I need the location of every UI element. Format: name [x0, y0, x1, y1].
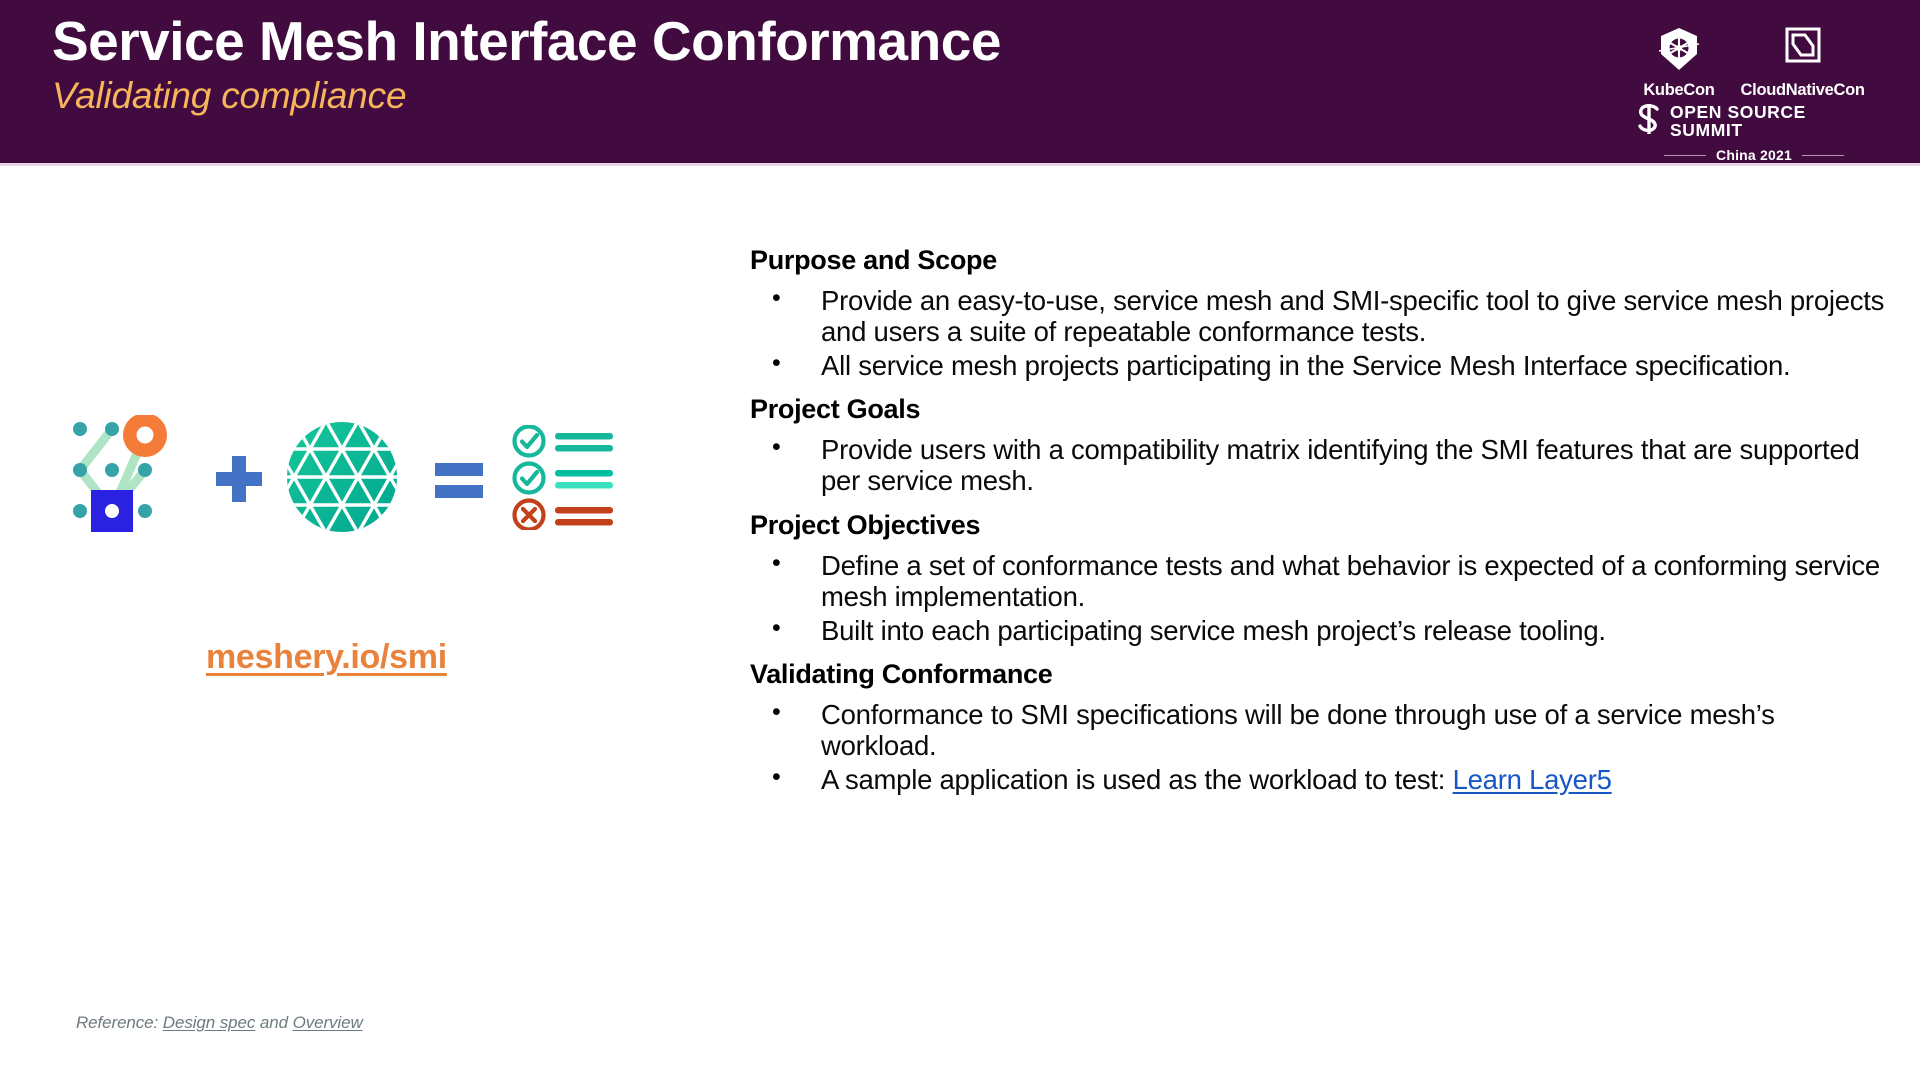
cloudnativecon-square-icon [1781, 26, 1825, 77]
conformance-results-checklist-icon [510, 425, 622, 535]
list-item: Define a set of conformance tests and wh… [750, 550, 1890, 613]
logo-rule-right [1802, 155, 1844, 156]
list-item: Provide an easy-to-use, service mesh and… [750, 285, 1890, 348]
overview-link[interactable]: Overview [293, 1013, 363, 1032]
content-column: Purpose and Scope Provide an easy-to-use… [750, 245, 1890, 797]
logo-row-primary: KubeCon CloudNativeCon [1634, 8, 1874, 98]
reference-label: Reference: [76, 1013, 158, 1032]
equals-symbol [431, 453, 487, 510]
header-divider [0, 163, 1920, 166]
logo-row-year: China 2021 [1634, 148, 1874, 162]
kubecon-label: KubeCon [1643, 82, 1714, 99]
reference-conjunction: and [260, 1013, 288, 1032]
section-heading: Project Goals [750, 394, 1890, 425]
section-purpose-and-scope: Purpose and Scope Provide an easy-to-use… [750, 245, 1890, 381]
list-item: Built into each participating service me… [750, 615, 1890, 646]
bullet-list: Provide users with a compatibility matri… [750, 434, 1890, 497]
bullet-list: Conformance to SMI specifications will b… [750, 699, 1890, 795]
reference-footnote: Reference: Design spec and Overview [76, 1013, 363, 1033]
list-item-with-link: A sample application is used as the work… [750, 764, 1890, 795]
list-item: Provide users with a compatibility matri… [750, 434, 1890, 497]
title-block: Service Mesh Interface Conformance Valid… [52, 12, 1001, 116]
bullet-list: Provide an easy-to-use, service mesh and… [750, 285, 1890, 381]
conference-year-label: China 2021 [1716, 148, 1792, 162]
conformance-equation-illustration [55, 415, 665, 540]
list-item-text: A sample application is used as the work… [821, 764, 1453, 795]
meshery-smi-link[interactable]: meshery.io/smi [206, 638, 447, 677]
conference-logo-lockup: KubeCon CloudNativeCon OPEN SOURCE SUMMI… [1634, 8, 1874, 156]
section-validating-conformance: Validating Conformance Conformance to SM… [750, 659, 1890, 795]
logo-rule-left [1664, 155, 1706, 156]
logo-row-summit: OPEN SOURCE SUMMIT [1634, 102, 1874, 141]
plus-symbol [211, 451, 267, 512]
section-project-objectives: Project Objectives Define a set of confo… [750, 510, 1890, 646]
page-subtitle: Validating compliance [52, 77, 1001, 116]
section-heading: Purpose and Scope [750, 245, 1890, 276]
list-item: All service mesh projects participating … [750, 350, 1890, 381]
kubecon-logo: KubeCon [1632, 26, 1725, 99]
open-source-summit-s-icon [1634, 102, 1664, 141]
section-project-goals: Project Goals Provide users with a compa… [750, 394, 1890, 497]
open-source-summit-label: OPEN SOURCE SUMMIT [1670, 104, 1874, 139]
smi-nodes-icon [55, 415, 175, 545]
section-heading: Project Objectives [750, 510, 1890, 541]
bullet-list: Define a set of conformance tests and wh… [750, 550, 1890, 646]
design-spec-link[interactable]: Design spec [163, 1013, 255, 1032]
learn-layer5-link[interactable]: Learn Layer5 [1453, 764, 1612, 795]
list-item: Conformance to SMI specifications will b… [750, 699, 1890, 762]
cloudnativecon-label: CloudNativeCon [1741, 82, 1865, 99]
kubernetes-helm-icon [1657, 26, 1701, 77]
meshery-mesh-circle-icon [286, 421, 398, 538]
section-heading: Validating Conformance [750, 659, 1890, 690]
page-title: Service Mesh Interface Conformance [52, 12, 1001, 71]
cloudnativecon-logo: CloudNativeCon [1730, 26, 1876, 99]
